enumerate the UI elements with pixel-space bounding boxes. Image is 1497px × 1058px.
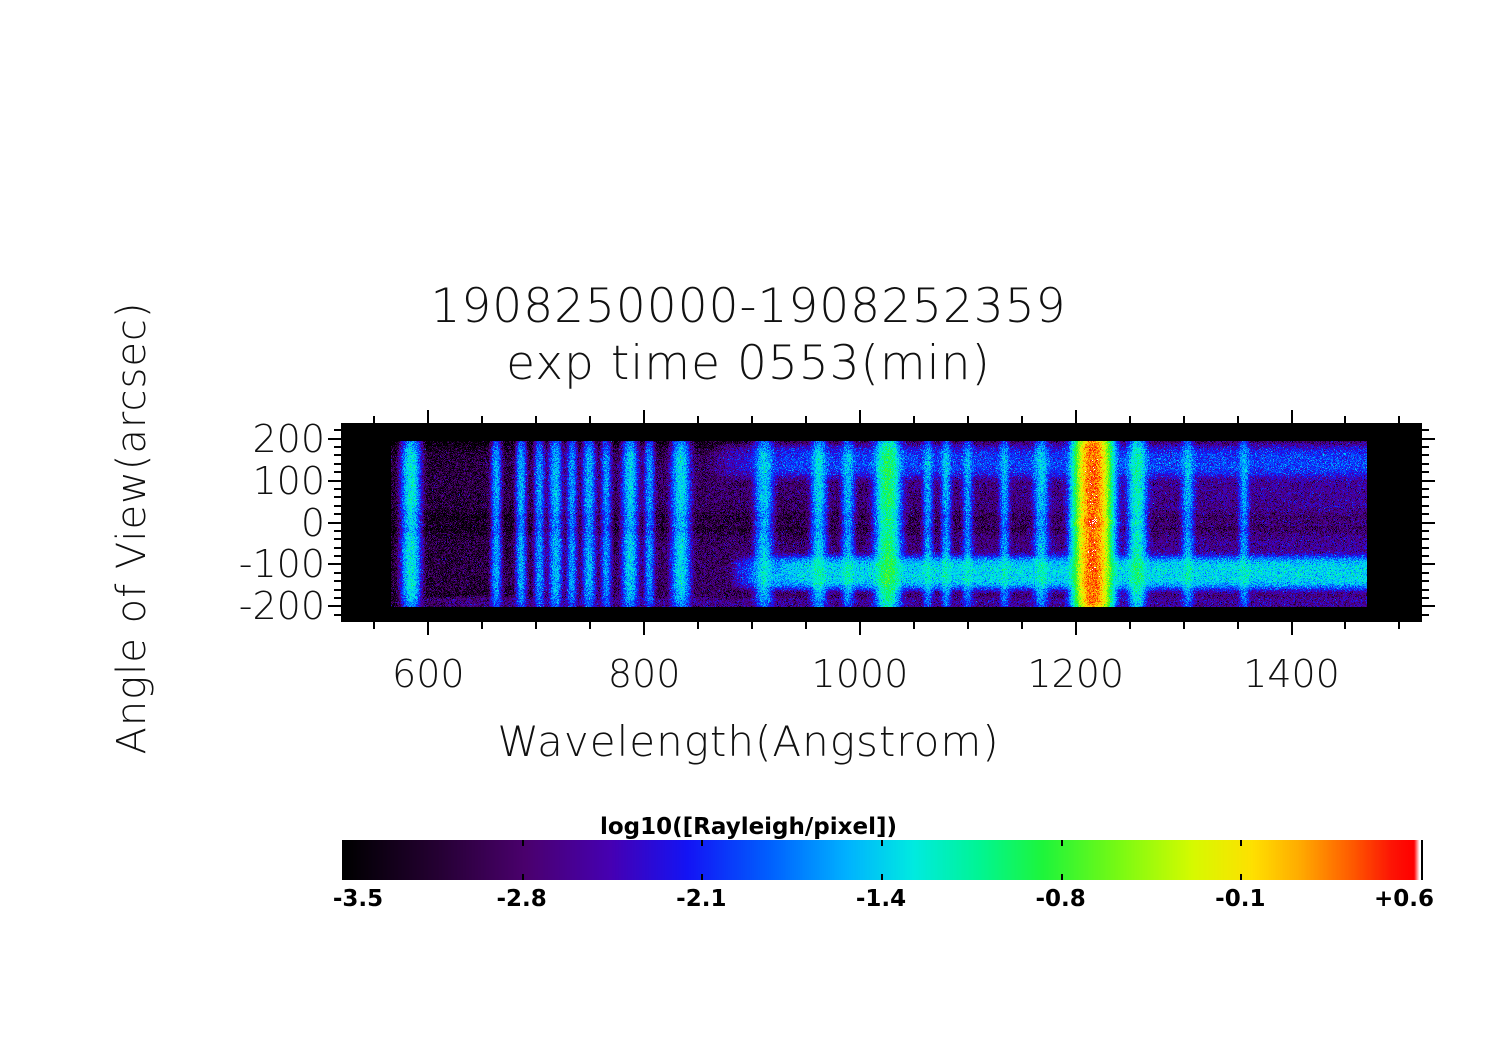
y-axis-tick <box>334 496 341 498</box>
colorbar-tick-label: -1.4 <box>856 886 906 912</box>
x-axis-tick <box>1398 416 1400 423</box>
x-axis-tick <box>427 410 429 423</box>
y-axis-tick <box>334 530 341 532</box>
x-axis-tick <box>751 622 753 629</box>
y-axis-tick <box>1422 597 1429 599</box>
x-axis-title: Wavelength(Angstrom) <box>0 717 1497 766</box>
x-axis-tick <box>697 622 699 629</box>
x-axis-tick <box>1398 622 1400 629</box>
y-axis-tick <box>334 580 341 582</box>
x-axis-tick <box>1183 416 1185 423</box>
y-axis-tick <box>334 513 341 515</box>
colorbar-tick <box>1240 840 1242 846</box>
figure-root: 1908250000-1908252359 exp time 0553(min)… <box>0 0 1497 1058</box>
y-axis-tick <box>334 454 341 456</box>
x-axis-tick <box>1291 410 1293 423</box>
y-axis-tick <box>1422 429 1429 431</box>
y-axis-tick <box>328 563 341 565</box>
x-axis-tick <box>589 622 591 629</box>
y-axis-tick <box>1422 513 1429 515</box>
colorbar-tick-label: +0.6 <box>1374 886 1434 912</box>
colorbar-tick <box>1061 840 1063 846</box>
colorbar-tick <box>1061 874 1063 880</box>
x-axis-tick <box>859 410 861 423</box>
y-axis-title: Angle of View(arcsec) <box>109 268 155 788</box>
y-axis-tick <box>1422 563 1435 565</box>
y-tick-labels: 2001000-100-200 <box>185 400 325 650</box>
y-axis-tick <box>1422 580 1429 582</box>
y-axis-tick <box>1422 463 1429 465</box>
x-axis-tick <box>1237 622 1239 629</box>
y-axis-tick <box>1422 555 1429 557</box>
x-axis-tick <box>1183 622 1185 629</box>
x-axis-tick <box>913 416 915 423</box>
y-axis-tick <box>334 429 341 431</box>
colorbar-tick <box>522 874 524 880</box>
y-axis-tick <box>334 614 341 616</box>
x-axis-tick <box>643 622 645 635</box>
y-axis-tick <box>334 463 341 465</box>
colorbar-tick <box>881 840 883 846</box>
colorbar-tick <box>701 874 703 880</box>
y-axis-tick <box>334 471 341 473</box>
colorbar-tick <box>701 840 703 846</box>
x-axis-tick <box>1021 622 1023 629</box>
y-axis-tick <box>1422 480 1435 482</box>
y-axis-tick <box>334 505 341 507</box>
spectrogram-image <box>342 424 1421 621</box>
x-axis-tick <box>481 622 483 629</box>
x-axis-tick <box>1075 410 1077 423</box>
y-axis-tick <box>328 438 341 440</box>
y-axis-tick <box>328 480 341 482</box>
y-axis-tick <box>334 589 341 591</box>
x-axis-tick <box>373 416 375 423</box>
x-axis-tick <box>427 622 429 635</box>
x-tick-label: 1000 <box>812 655 909 693</box>
x-axis-tick <box>805 622 807 629</box>
title-line-1: 1908250000-1908252359 <box>0 278 1497 335</box>
y-axis-tick <box>1422 505 1429 507</box>
x-axis-tick <box>535 416 537 423</box>
colorbar-tick-label: -0.8 <box>1036 886 1086 912</box>
colorbar-tick-label: -2.8 <box>497 886 547 912</box>
y-axis-tick <box>1422 614 1429 616</box>
colorbar-title: log10([Rayleigh/pixel]) <box>0 814 1497 840</box>
x-tick-labels: 600800100012001400 <box>0 655 1497 705</box>
x-axis-tick <box>373 622 375 629</box>
colorbar <box>342 840 1423 880</box>
y-axis-tick <box>328 522 341 524</box>
spectrogram-panel <box>341 423 1422 622</box>
y-axis-tick <box>334 597 341 599</box>
y-axis-tick <box>334 538 341 540</box>
x-axis-tick <box>859 622 861 635</box>
y-tick-label: -100 <box>239 545 325 583</box>
y-axis-tick <box>328 605 341 607</box>
colorbar-tick <box>522 840 524 846</box>
y-axis-tick <box>1422 471 1429 473</box>
y-axis-tick <box>1422 572 1429 574</box>
y-axis-tick <box>1422 496 1429 498</box>
y-tick-label: 200 <box>252 420 325 458</box>
y-axis-tick <box>1422 547 1429 549</box>
y-axis-tick <box>1422 589 1429 591</box>
x-axis-tick <box>1237 416 1239 423</box>
x-tick-label: 600 <box>392 655 465 693</box>
y-axis-tick <box>1422 438 1435 440</box>
y-axis-tick <box>1422 538 1429 540</box>
y-axis-tick <box>1422 446 1429 448</box>
colorbar-tick-label: -0.1 <box>1215 886 1265 912</box>
x-axis-tick <box>535 622 537 629</box>
title-line-2: exp time 0553(min) <box>0 335 1497 392</box>
colorbar-tick <box>1240 874 1242 880</box>
x-axis-tick <box>1291 622 1293 635</box>
y-axis-tick <box>334 555 341 557</box>
y-axis-tick <box>334 446 341 448</box>
x-axis-tick <box>481 416 483 423</box>
colorbar-tick-label: -3.5 <box>333 886 383 912</box>
x-axis-tick <box>913 622 915 629</box>
y-tick-label: -200 <box>239 587 325 625</box>
colorbar-tick-labels: -3.5-2.8-2.1-1.4-0.8-0.1+0.6 <box>342 886 1423 926</box>
colorbar-ticks <box>342 840 1423 880</box>
y-axis-tick <box>1422 488 1429 490</box>
x-axis-tick <box>805 416 807 423</box>
y-tick-label: 0 <box>301 504 325 542</box>
y-axis-tick <box>334 572 341 574</box>
x-axis-tick <box>751 416 753 423</box>
y-axis-tick <box>1422 522 1435 524</box>
colorbar-tick <box>881 874 883 880</box>
y-axis-tick <box>1422 530 1429 532</box>
y-axis-tick <box>334 547 341 549</box>
x-axis-tick <box>967 416 969 423</box>
colorbar-tick-label: -2.1 <box>676 886 726 912</box>
x-tick-label: 1400 <box>1243 655 1340 693</box>
x-axis-tick <box>1344 622 1346 629</box>
x-axis-tick <box>1344 416 1346 423</box>
x-axis-tick <box>1129 622 1131 629</box>
y-axis-tick <box>1422 605 1435 607</box>
x-tick-label: 1200 <box>1027 655 1124 693</box>
x-axis-tick <box>1021 416 1023 423</box>
x-axis-tick <box>1075 622 1077 635</box>
x-tick-label: 800 <box>608 655 681 693</box>
x-axis-tick <box>1129 416 1131 423</box>
y-tick-label: 100 <box>252 462 325 500</box>
x-axis-tick <box>697 416 699 423</box>
y-axis-tick <box>334 488 341 490</box>
x-axis-tick <box>589 416 591 423</box>
chart-title: 1908250000-1908252359 exp time 0553(min) <box>0 278 1497 392</box>
x-axis-tick <box>643 410 645 423</box>
x-axis-tick <box>967 622 969 629</box>
y-axis-tick <box>1422 454 1429 456</box>
